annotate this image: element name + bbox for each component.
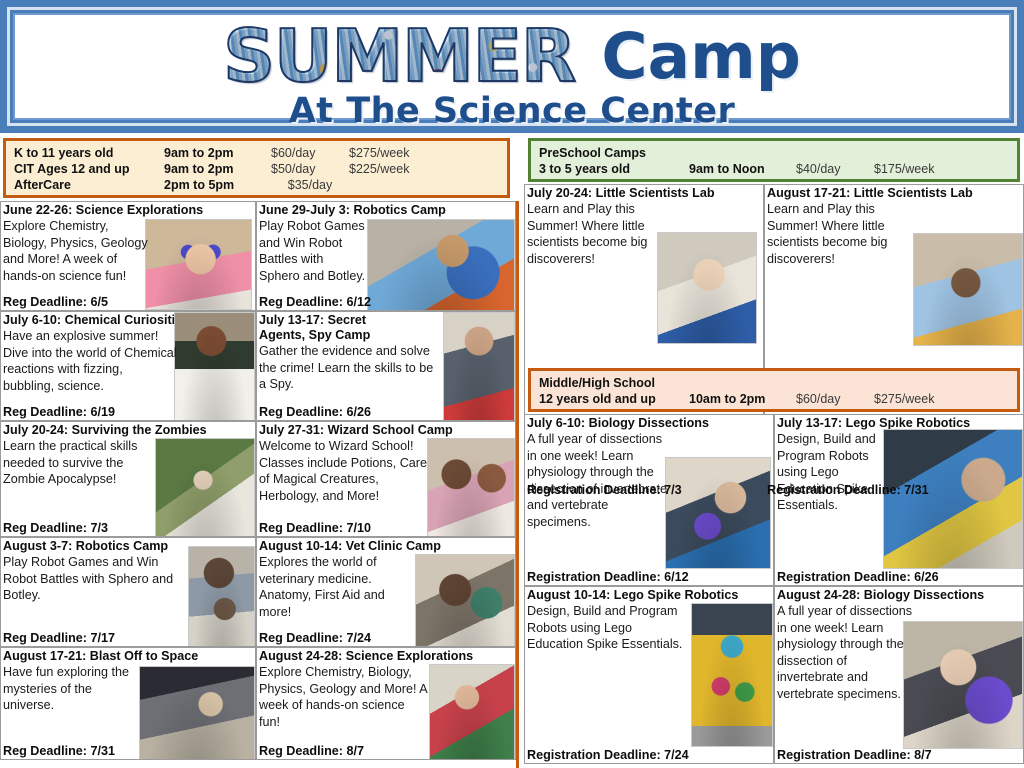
camp-card-title: July 6-10: Biology Dissections [525, 415, 773, 431]
camp-card-photo [883, 429, 1023, 569]
camp-grid-row: August 17-21: Blast Off to Space Have fu… [0, 647, 516, 760]
middlehigh-heading: Middle/High School [539, 375, 1017, 391]
camp-card-deadline: Reg Deadline: 7/31 [3, 744, 115, 758]
main-pricing-table: K to 11 years old 9am to 2pm $60/day $27… [3, 138, 510, 198]
camp-card-deadline: Reg Deadline: 7/10 [259, 521, 371, 535]
banner-title-row: SUMMER Camp [15, 17, 1009, 95]
camp-card-title: June 22-26: Science Explorations [1, 202, 255, 218]
camp-card-photo [429, 664, 515, 760]
camp-card-description: Play Robot Games and Win Robot Battles w… [1, 554, 187, 604]
pricing-day-rate: $40/day [796, 161, 874, 177]
camp-card-photo [427, 438, 515, 537]
camp-card-deadline: Reg Deadline: 8/7 [259, 744, 364, 758]
camp-card-description: Play Robot Games and Win Robot Battles w… [257, 218, 367, 284]
camp-card-title: August 17-21: Little Scientists Lab [765, 185, 1023, 201]
camp-card-photo [155, 438, 255, 537]
camp-card-description: Gather the evidence and solve the crime!… [257, 343, 441, 393]
camp-card-photo [903, 621, 1023, 749]
pricing-row: K to 11 years old 9am to 2pm $60/day $27… [14, 145, 507, 161]
camp-card-deadline: Reg Deadline: 7/17 [3, 631, 115, 645]
main-camp-grid: June 22-26: Science Explorations Explore… [0, 201, 516, 760]
camp-card[interactable]: July 6-10: Chemical Curiosities Have an … [0, 311, 256, 421]
right-column: PreSchool Camps 3 to 5 years old 9am to … [520, 133, 1024, 768]
pricing-week-rate: $275/week [349, 145, 427, 161]
camp-card-deadline: Reg Deadline: 6/5 [3, 295, 108, 309]
camp-card-deadline: Reg Deadline: 6/26 [259, 405, 371, 419]
camp-card[interactable]: July 27-31: Wizard School Camp Welcome t… [256, 421, 516, 537]
camp-grid-row: June 22-26: Science Explorations Explore… [0, 201, 516, 311]
camp-card-photo [145, 219, 252, 310]
camp-card-title: August 10-14: Lego Spike Robotics [525, 587, 773, 603]
preschool-pricing-table: PreSchool Camps 3 to 5 years old 9am to … [528, 138, 1020, 182]
camp-card[interactable]: August 24-28: Biology Dissections A full… [774, 586, 1024, 764]
camp-grid-row: July 6-10: Chemical Curiosities Have an … [0, 311, 516, 421]
pricing-age-label: AfterCare [14, 177, 164, 193]
camp-card-deadline: Registration Deadline: 8/7 [777, 748, 932, 762]
pricing-row: 3 to 5 years old 9am to Noon $40/day $17… [539, 161, 1017, 177]
camp-card-description: A full year of dissections in one week! … [775, 603, 915, 703]
camp-card-description: Have an explosive summer! Dive into the … [1, 328, 177, 394]
pricing-day-rate: $60/day [271, 145, 349, 161]
camp-card[interactable]: July 13-17: Secret Agents, Spy Camp Gath… [256, 311, 516, 421]
pricing-time-value: 2pm to 5pm [164, 177, 271, 193]
camp-card-photo [913, 233, 1023, 346]
pricing-time-value: 9am to 2pm [164, 161, 271, 177]
pricing-week-rate: $275/week [874, 391, 952, 407]
middlehigh-pricing-table: Middle/High School 12 years old and up 1… [528, 368, 1020, 412]
camp-grid-row: July 20-24: Surviving the Zombies Learn … [0, 421, 516, 537]
camp-card[interactable]: July 13-17: Lego Spike Robotics Design, … [774, 414, 1024, 586]
camp-card-deadline: Reg Deadline: 6/12 [259, 295, 371, 309]
camp-card-description: Explore Chemistry, Biology, Physics, Geo… [1, 218, 149, 284]
banner-word-summer: SUMMER [223, 20, 575, 92]
pricing-week-rate: $225/week [349, 161, 427, 177]
middlehigh-camp-grid: July 6-10: Biology Dissections A full ye… [524, 414, 1024, 764]
pricing-day-rate: $50/day [271, 161, 349, 177]
pricing-time-value: 9am to Noon [689, 161, 796, 177]
camp-card-deadline: Registration Deadline: 6/12 [527, 570, 689, 584]
camp-card-title: August 24-28: Biology Dissections [775, 587, 1023, 603]
pricing-age-label: 12 years old and up [539, 391, 689, 407]
camp-card-title: June 29-July 3: Robotics Camp [257, 202, 515, 218]
camp-card-deadline: Reg Deadline: 7/3 [3, 521, 108, 535]
camp-card[interactable]: June 29-July 3: Robotics Camp Play Robot… [256, 201, 516, 311]
camp-card-title: July 20-24: Little Scientists Lab [525, 185, 763, 201]
camp-card-description: Design, Build and Program Robots using L… [525, 603, 689, 653]
flyer-body: K to 11 years old 9am to 2pm $60/day $27… [0, 133, 1024, 768]
camp-card-description: Learn and Play this Summer! Where little… [765, 201, 917, 267]
pricing-day-rate: $35/day [271, 177, 349, 193]
camp-card-photo [691, 603, 773, 747]
pricing-age-label: K to 11 years old [14, 145, 164, 161]
camp-card-description: Explores the world of veterinary medicin… [257, 554, 413, 620]
banner-frame-inner: SUMMER Camp At The Science Center [13, 13, 1011, 120]
camp-card-photo [188, 546, 255, 647]
camp-card-photo [415, 554, 515, 647]
camp-card-title: August 24-28: Science Explorations [257, 648, 515, 664]
camp-card-deadline: Reg Deadline: 7/24 [259, 631, 371, 645]
pricing-age-label: CIT Ages 12 and up [14, 161, 164, 177]
camp-card-title: July 13-17: Secret Agents, Spy Camp [257, 312, 407, 343]
pricing-time-value: 9am to 2pm [164, 145, 271, 161]
camp-card[interactable]: August 3-7: Robotics Camp Play Robot Gam… [0, 537, 256, 647]
camp-grid-row: July 6-10: Biology Dissections A full ye… [524, 414, 1024, 586]
camp-card-title: August 17-21: Blast Off to Space [1, 648, 255, 664]
camp-card-deadline: Registration Deadline: 7/24 [527, 748, 689, 762]
left-column: K to 11 years old 9am to 2pm $60/day $27… [0, 133, 516, 768]
camp-card-deadline: Registration Deadline: 6/26 [777, 570, 939, 584]
camp-card-description: A full year of dissections in one week! … [525, 431, 667, 531]
banner-frame-outer: SUMMER Camp At The Science Center [7, 7, 1017, 126]
camp-card[interactable]: June 22-26: Science Explorations Explore… [0, 201, 256, 311]
camp-card-photo [665, 457, 771, 569]
pricing-day-rate: $60/day [796, 391, 874, 407]
camp-grid-row: August 3-7: Robotics Camp Play Robot Gam… [0, 537, 516, 647]
pricing-week-rate: $175/week [874, 161, 952, 177]
column-divider [516, 201, 519, 768]
camp-card-photo [657, 232, 757, 344]
camp-card-deadline: Registration Deadline: 7/3 [527, 483, 682, 497]
pricing-row: 12 years old and up 10am to 2pm $60/day … [539, 391, 1017, 407]
camp-card-deadline: Reg Deadline: 6/19 [3, 405, 115, 419]
pricing-age-label: 3 to 5 years old [539, 161, 689, 177]
pricing-time-value: 10am to 2pm [689, 391, 796, 407]
banner-word-camp: Camp [601, 25, 801, 88]
camp-card-description: Learn and Play this Summer! Where little… [525, 201, 659, 267]
camp-card[interactable]: August 10-14: Vet Clinic Camp Explores t… [256, 537, 516, 647]
camp-card-description: Have fun exploring the mysteries of the … [1, 664, 139, 714]
camp-card[interactable]: August 17-21: Blast Off to Space Have fu… [0, 647, 256, 760]
camp-card-title: July 20-24: Surviving the Zombies [1, 422, 255, 438]
camp-card[interactable]: July 6-10: Biology Dissections A full ye… [524, 414, 774, 586]
camp-card-title: July 27-31: Wizard School Camp [257, 422, 515, 438]
camp-card-deadline: Registration Deadline: 7/31 [767, 483, 929, 497]
camp-card-description: Explore Chemistry, Biology, Physics, Geo… [257, 664, 429, 730]
pricing-row: CIT Ages 12 and up 9am to 2pm $50/day $2… [14, 161, 507, 177]
camp-card-photo [139, 666, 255, 760]
camp-card-description: Design, Build and Program Robots using L… [775, 431, 885, 514]
camp-card-description: Learn the practical skills needed to sur… [1, 438, 153, 488]
camp-card-photo [174, 312, 255, 421]
camp-card-description: Welcome to Wizard School! Classes includ… [257, 438, 427, 504]
camp-card-photo [367, 219, 515, 311]
camp-card-photo [443, 312, 515, 421]
preschool-heading: PreSchool Camps [539, 145, 1017, 161]
camp-card-title: August 10-14: Vet Clinic Camp [257, 538, 515, 554]
camp-card[interactable]: August 10-14: Lego Spike Robotics Design… [524, 586, 774, 764]
camp-card[interactable]: July 20-24: Surviving the Zombies Learn … [0, 421, 256, 537]
header-banner: SUMMER Camp At The Science Center [0, 0, 1024, 133]
banner-subtitle: At The Science Center [15, 91, 1009, 131]
pricing-row: AfterCare 2pm to 5pm $35/day [14, 177, 507, 193]
camp-grid-row: August 10-14: Lego Spike Robotics Design… [524, 586, 1024, 764]
camp-card[interactable]: August 24-28: Science Explorations Explo… [256, 647, 516, 760]
